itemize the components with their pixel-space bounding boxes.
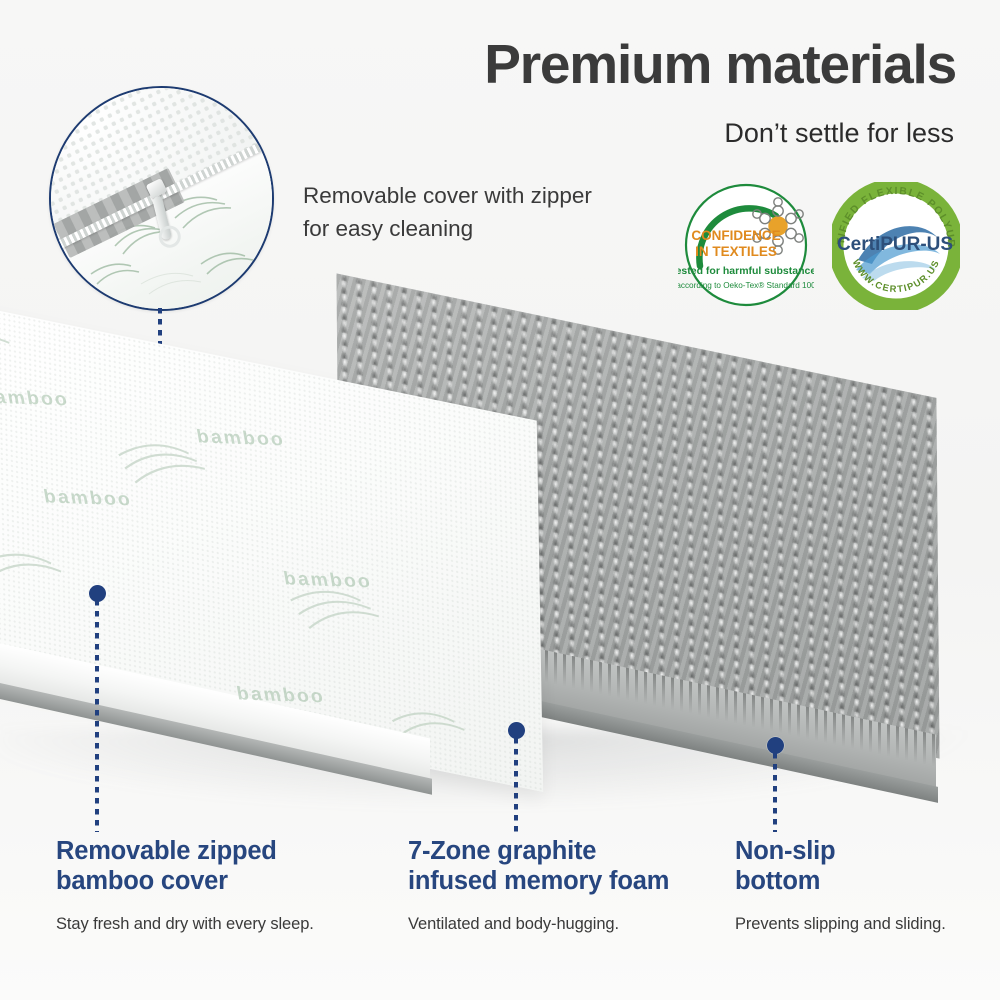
leader-dot-bottom [767, 737, 784, 754]
feature-removable-zipped-bamboo-cover: Removable zipped bamboo cover Stay fresh… [56, 836, 386, 934]
oeko-line3: Tested for harmful substances [678, 265, 814, 277]
oeko-line1: CONFIDENCE [691, 228, 780, 243]
certipur-wordmark: CertiPUR-US [837, 234, 953, 255]
zipper-closeup-inset [49, 86, 274, 311]
zipper-callout-line1: Removable cover with zipper [303, 180, 592, 213]
feature-title-line2: bottom [735, 866, 985, 896]
certipur-us-badge: CONTAINS CERTIFIED FLEXIBLE POLYURETHANE… [832, 182, 960, 310]
leader-dot-foam [508, 722, 525, 739]
feature-subtitle: Prevents slipping and sliding. [735, 915, 985, 934]
oeko-tex-icon: CONFIDENCE IN TEXTILES Tested for harmfu… [678, 182, 814, 308]
page-subtitle: Don’t settle for less [724, 118, 954, 149]
leader-line-foam [514, 738, 518, 832]
feature-title: 7-Zone graphite infused memory foam [408, 836, 708, 896]
feature-subtitle: Ventilated and body-hugging. [408, 915, 708, 934]
feature-title-line2: bamboo cover [56, 866, 386, 896]
page-title: Premium materials [484, 36, 956, 92]
certipur-us-icon: CONTAINS CERTIFIED FLEXIBLE POLYURETHANE… [832, 182, 960, 310]
certification-badges: CONFIDENCE IN TEXTILES Tested for harmfu… [678, 182, 960, 310]
feature-7-zone-graphite-memory-foam: 7-Zone graphite infused memory foam Vent… [408, 836, 708, 934]
product-infographic: Premium materials Don’t settle for less [0, 0, 1000, 1000]
leader-line-bottom [773, 753, 777, 832]
zipper-callout-text: Removable cover with zipper for easy cle… [303, 180, 592, 245]
leader-line-cover [95, 600, 99, 832]
feature-title: Removable zipped bamboo cover [56, 836, 386, 896]
product-photo [0, 330, 1000, 780]
oeko-line4: according to Oeko-Tex® Standard 100 [678, 281, 814, 290]
feature-subtitle: Stay fresh and dry with every sleep. [56, 915, 386, 934]
oeko-tex-badge: CONFIDENCE IN TEXTILES Tested for harmfu… [678, 182, 814, 308]
feature-title-line1: 7-Zone graphite [408, 836, 708, 866]
feature-title-line1: Removable zipped [56, 836, 386, 866]
feature-title-line2: infused memory foam [408, 866, 708, 896]
feature-title: Non-slip bottom [735, 836, 985, 896]
zipper-callout-line2: for easy cleaning [303, 213, 592, 246]
feature-non-slip-bottom: Non-slip bottom Prevents slipping and sl… [735, 836, 985, 934]
oeko-line2: IN TEXTILES [695, 244, 777, 259]
feature-title-line1: Non-slip [735, 836, 985, 866]
